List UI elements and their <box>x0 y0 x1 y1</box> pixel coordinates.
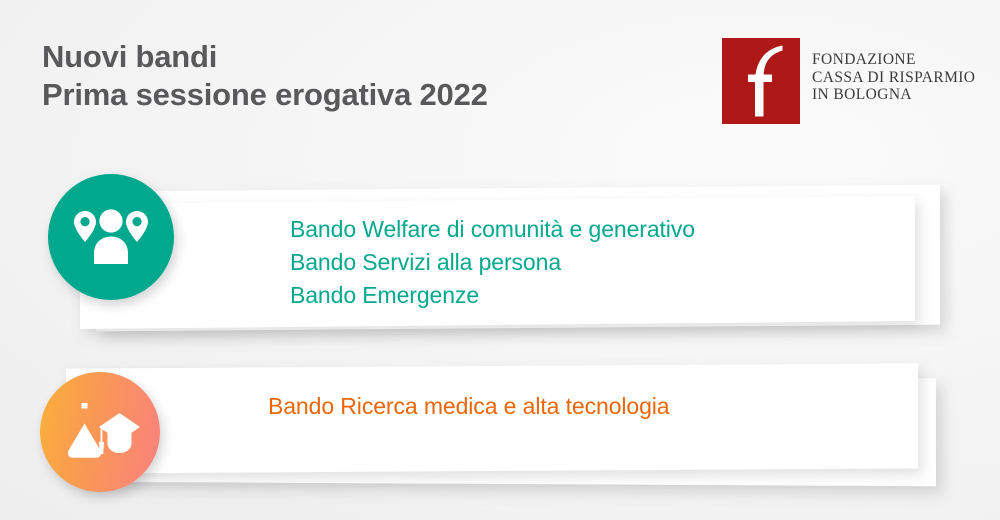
people-location-pins-icon <box>48 174 174 300</box>
card-text-ricerca: Bando Ricerca medica e alta tecnologia <box>268 390 670 423</box>
logo-text-line-3: IN BOLOGNA <box>812 86 975 104</box>
page-title-line-2: Prima sessione erogativa 2022 <box>42 76 488 114</box>
card-line: Bando Servizi alla persona <box>290 246 695 279</box>
bando-card-ricerca[interactable]: Bando Ricerca medica e alta tecnologia <box>36 362 936 487</box>
card-text-welfare: Bando Welfare di comunità e generativo B… <box>290 213 695 312</box>
fondazione-logo: FONDAZIONE CASSA DI RISPARMIO IN BOLOGNA <box>722 38 975 124</box>
logo-text-line-1: FONDAZIONE <box>812 51 975 69</box>
flask-graduation-cap-icon <box>40 372 160 492</box>
card-line: Bando Ricerca medica e alta tecnologia <box>268 390 670 423</box>
page-header: Nuovi bandi Prima sessione erogativa 202… <box>0 0 1000 150</box>
bando-card-welfare[interactable]: Bando Welfare di comunità e generativo B… <box>60 180 940 330</box>
logo-mark-f-icon <box>722 38 800 124</box>
logo-wordmark: FONDAZIONE CASSA DI RISPARMIO IN BOLOGNA <box>812 38 975 104</box>
logo-text-line-2: CASSA DI RISPARMIO <box>812 69 975 87</box>
card-line: Bando Emergenze <box>290 279 695 312</box>
card-line: Bando Welfare di comunità e generativo <box>290 213 695 246</box>
page-title: Nuovi bandi Prima sessione erogativa 202… <box>42 38 488 114</box>
page-title-line-1: Nuovi bandi <box>42 38 488 76</box>
